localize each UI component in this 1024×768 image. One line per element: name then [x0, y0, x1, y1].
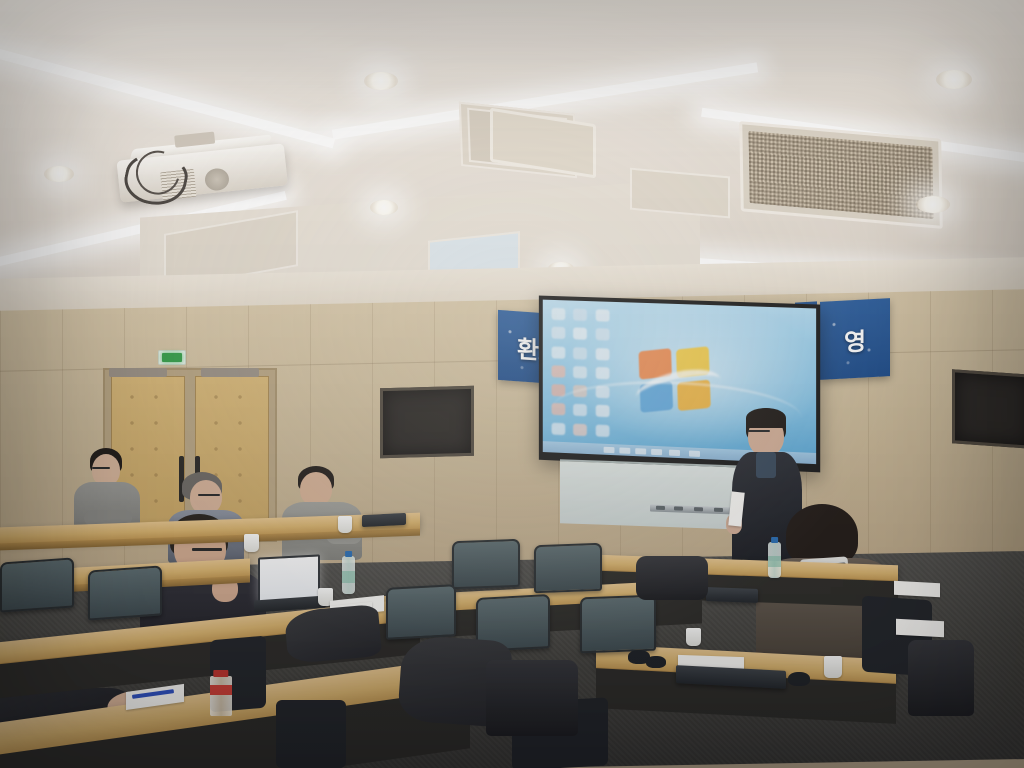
water-bottle-label: [342, 571, 355, 582]
banner-left-text: 환: [517, 329, 539, 366]
chair[interactable]: [452, 539, 520, 589]
door-closer-left: [109, 368, 167, 377]
condiment-bottle[interactable]: [210, 676, 232, 716]
water-bottle-cap: [345, 551, 353, 557]
water-bottle-label: [768, 556, 781, 567]
desktop-icon[interactable]: [552, 365, 566, 377]
whiteboard-marker[interactable]: [714, 508, 723, 512]
desktop-icon[interactable]: [552, 327, 566, 339]
vent-grille-right: [748, 131, 933, 219]
chair[interactable]: [534, 543, 602, 593]
taskbar-button[interactable]: [604, 447, 615, 453]
projector-lens: [204, 167, 230, 191]
water-bottle[interactable]: [342, 556, 355, 594]
paper-sheet[interactable]: [894, 581, 940, 597]
laptop-closed[interactable]: [362, 513, 406, 527]
desktop-icon[interactable]: [595, 309, 609, 321]
taskbar-button[interactable]: [635, 448, 646, 454]
whiteboard-marker[interactable]: [694, 507, 703, 511]
paper-sheet[interactable]: [896, 619, 944, 638]
attendee-back-left-glasses: [92, 467, 110, 469]
downlight-6: [916, 196, 950, 213]
laptop-closed[interactable]: [706, 587, 758, 603]
chair[interactable]: [580, 595, 656, 654]
wall-monitor-right: [952, 369, 1024, 449]
condiment-bottle-label: [210, 685, 232, 695]
desktop-icon[interactable]: [552, 308, 566, 320]
wall-monitor-left: [380, 386, 474, 458]
conference-room-photo: 환 영: [0, 0, 1024, 768]
backpack[interactable]: [636, 556, 708, 600]
banner-right-text: 영: [844, 321, 866, 357]
chair-back[interactable]: [276, 700, 346, 768]
water-bottle-cap: [771, 537, 779, 543]
computer-mouse[interactable]: [788, 672, 810, 686]
attendee-center: [282, 466, 364, 556]
paper-cup[interactable]: [686, 628, 701, 646]
paper-cup[interactable]: [824, 656, 842, 678]
desktop-icon[interactable]: [573, 347, 587, 359]
attendee-mid-left-head: [190, 480, 222, 514]
chair[interactable]: [88, 565, 162, 620]
desktop-icon[interactable]: [595, 367, 609, 379]
downlight-3: [370, 200, 398, 215]
backpack[interactable]: [486, 660, 578, 736]
desktop-icon[interactable]: [552, 346, 566, 358]
attendee-right-hair: [786, 504, 858, 566]
computer-mouse[interactable]: [646, 656, 666, 668]
desktop-icon[interactable]: [573, 309, 587, 321]
attendee-front-left-glasses: [192, 548, 222, 551]
taskbar-button[interactable]: [669, 450, 680, 456]
attendee-center-head: [300, 472, 332, 506]
whiteboard-marker[interactable]: [656, 506, 665, 510]
taskbar-button[interactable]: [619, 447, 630, 453]
door-closer-right: [201, 368, 259, 377]
presenter-shirt-collar: [756, 452, 776, 478]
paper-cup[interactable]: [338, 516, 352, 533]
attendee-mid-left-glasses: [198, 494, 220, 496]
presenter-hair-top: [746, 408, 786, 428]
backpack[interactable]: [908, 640, 974, 716]
condiment-bottle-cap: [213, 670, 228, 677]
exit-sign: [158, 350, 186, 365]
cove-light-strip-left: [0, 46, 335, 149]
banner-right: 영: [820, 298, 890, 380]
desktop-icon[interactable]: [595, 328, 609, 340]
downlight-5: [936, 70, 972, 89]
taskbar-button[interactable]: [651, 449, 662, 455]
chair[interactable]: [0, 557, 74, 612]
water-bottle[interactable]: [768, 542, 781, 578]
desktop-icon[interactable]: [573, 366, 587, 378]
taskbar-button[interactable]: [689, 450, 700, 456]
downlight-1: [44, 166, 74, 182]
hvac-vent-right: [739, 121, 943, 229]
downlight-2: [364, 72, 398, 90]
ceiling-panel-mid: [630, 168, 730, 219]
paper-cup[interactable]: [244, 534, 259, 552]
desktop-icon[interactable]: [595, 348, 609, 360]
whiteboard-marker[interactable]: [674, 506, 683, 510]
presenter-glasses: [748, 430, 770, 432]
condiment-bottle-body: [210, 676, 232, 716]
desktop-icon[interactable]: [552, 422, 566, 434]
desktop-icon[interactable]: [573, 328, 587, 340]
chair[interactable]: [386, 584, 456, 640]
exit-sign-glow: [162, 353, 182, 362]
